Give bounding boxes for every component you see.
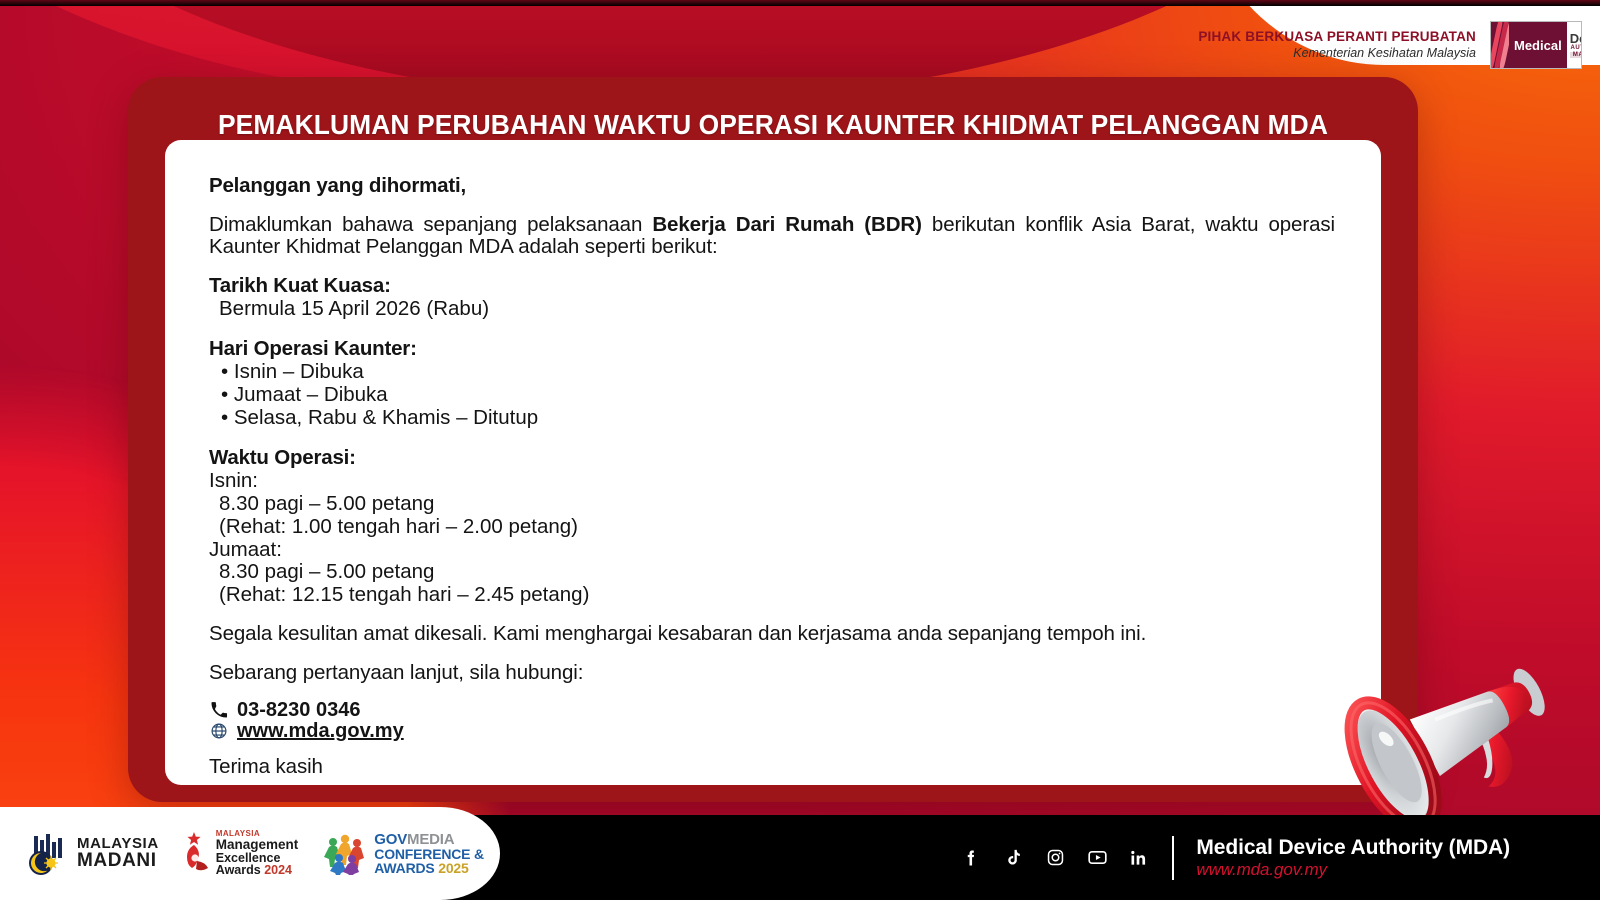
hours-break: (Rehat: 1.00 tengah hari – 2.00 petang) [209,516,1335,539]
operating-days-block: Hari Operasi Kaunter: • Isnin – Dibuka •… [209,337,1335,430]
header-logo-group: PIHAK BERKUASA PERANTI PERUBATAN Kemente… [1198,16,1582,74]
gov-media-wordmark: GOVMEDIA CONFERENCE & AWARDS 2025 [374,832,484,875]
logo-management-excellence-awards: MALAYSIA Management Excellence Awards 20… [185,830,299,877]
facebook-icon[interactable] [960,847,982,869]
youtube-icon[interactable] [1086,847,1108,869]
hours-time: 8.30 pagi – 5.00 petang [209,561,1335,584]
poster-body: Pelanggan yang dihormati, Dimaklumkan ba… [165,140,1381,785]
contact-intro: Sebarang pertanyaan lanjut, sila hubungi… [209,662,1335,684]
mda-logo: Medical Device AUTHORITY MALAYSIA [1490,21,1582,69]
madani-wordmark: MALAYSIA MADANI [77,837,159,870]
list-item: • Jumaat – Dibuka [209,384,1335,407]
gov-line2: CONFERENCE & [374,847,484,861]
hours-day-label: Isnin: [209,470,1335,493]
footer-awards-panel: MALAYSIA MADANI MALAYSIA Management Exce… [0,807,500,900]
gov-media-icon [324,833,368,875]
hours-day-label: Jumaat: [209,539,1335,562]
mmea-line1: Management [216,838,299,852]
mmea-awards-label: Awards [216,863,261,877]
tiktok-icon[interactable] [1002,847,1024,869]
list-item: • Isnin – Dibuka [209,361,1335,384]
website-url: www.mda.gov.my [237,721,404,742]
logo-malaysia-madani: MALAYSIA MADANI [24,832,159,876]
madani-icon [24,832,70,876]
footer-brand-url[interactable]: www.mda.gov.my [1196,860,1510,880]
mda-logo-device: Device [1570,32,1582,45]
phone-icon [209,700,229,720]
mda-logo-authority: AUTHORITY [1570,45,1582,51]
phone-number: 03-8230 0346 [237,700,360,721]
effective-date-value: Bermula 15 April 2026 (Rabu) [209,298,1335,321]
effective-date-block: Tarikh Kuat Kuasa: Bermula 15 April 2026… [209,274,1335,321]
agency-name: PIHAK BERKUASA PERANTI PERUBATAN [1198,29,1476,46]
hours-break: (Rehat: 12.15 tengah hari – 2.45 petang) [209,584,1335,607]
footer: MALAYSIA MADANI MALAYSIA Management Exce… [0,815,1600,900]
globe-icon [209,721,229,741]
gov-line1: GOVMEDIA [374,832,484,847]
footer-brand: Medical Device Authority (MDA) www.mda.g… [1196,836,1510,880]
hours-time: 8.30 pagi – 5.00 petang [209,493,1335,516]
intro-pre: Dimaklumkan bahawa sepanjang pelaksanaan [209,213,652,236]
mda-logo-malaysia: MALAYSIA [1570,52,1582,58]
header-agency-text: PIHAK BERKUASA PERANTI PERUBATAN Kemente… [1198,29,1476,62]
mmea-wordmark: MALAYSIA Management Excellence Awards 20… [216,830,299,877]
footer-divider [1172,836,1174,880]
mmea-icon [185,831,211,875]
instagram-icon[interactable] [1044,847,1066,869]
mmea-line3: Awards 2024 [216,864,299,877]
operating-days-heading: Hari Operasi Kaunter: [209,337,1335,361]
mda-swoosh-icon [1491,22,1509,68]
phone-row[interactable]: 03-8230 0346 [209,700,1335,721]
contact-block: 03-8230 0346 www.mda.gov.my [209,700,1335,742]
gov-line3: AWARDS 2025 [374,861,484,875]
apology-paragraph: Segala kesulitan amat dikesali. Kami men… [209,623,1335,645]
operating-hours-heading: Waktu Operasi: [209,446,1335,470]
effective-date-heading: Tarikh Kuat Kuasa: [209,274,1335,298]
poster-frame: PEMAKLUMAN PERUBAHAN WAKTU OPERASI KAUNT… [128,77,1418,802]
social-icons [960,847,1150,869]
mmea-year: 2024 [264,863,292,877]
footer-brand-name: Medical Device Authority (MDA) [1196,836,1510,860]
website-row[interactable]: www.mda.gov.my [209,721,1335,742]
thanks-text: Terima kasih [209,756,1335,778]
mda-logo-medical: Medical [1509,22,1567,68]
linkedin-icon[interactable] [1128,847,1150,869]
madani-line2: MADANI [77,852,159,871]
intro-bold: Bekerja Dari Rumah (BDR) [652,213,922,236]
footer-right: Medical Device Authority (MDA) www.mda.g… [900,815,1600,900]
gov-year: 2025 [438,860,468,876]
list-item: • Selasa, Rabu & Khamis – Ditutup [209,407,1335,430]
ministry-name: Kementerian Kesihatan Malaysia [1198,46,1476,62]
intro-paragraph: Dimaklumkan bahawa sepanjang pelaksanaan… [209,214,1335,258]
salutation: Pelanggan yang dihormati, [209,174,1335,198]
gov-awards-label: AWARDS [374,860,434,876]
logo-gov-media-conference: GOVMEDIA CONFERENCE & AWARDS 2025 [324,832,484,875]
mda-logo-right: Device AUTHORITY MALAYSIA [1567,22,1582,68]
operating-hours-block: Waktu Operasi: Isnin: 8.30 pagi – 5.00 p… [209,446,1335,608]
